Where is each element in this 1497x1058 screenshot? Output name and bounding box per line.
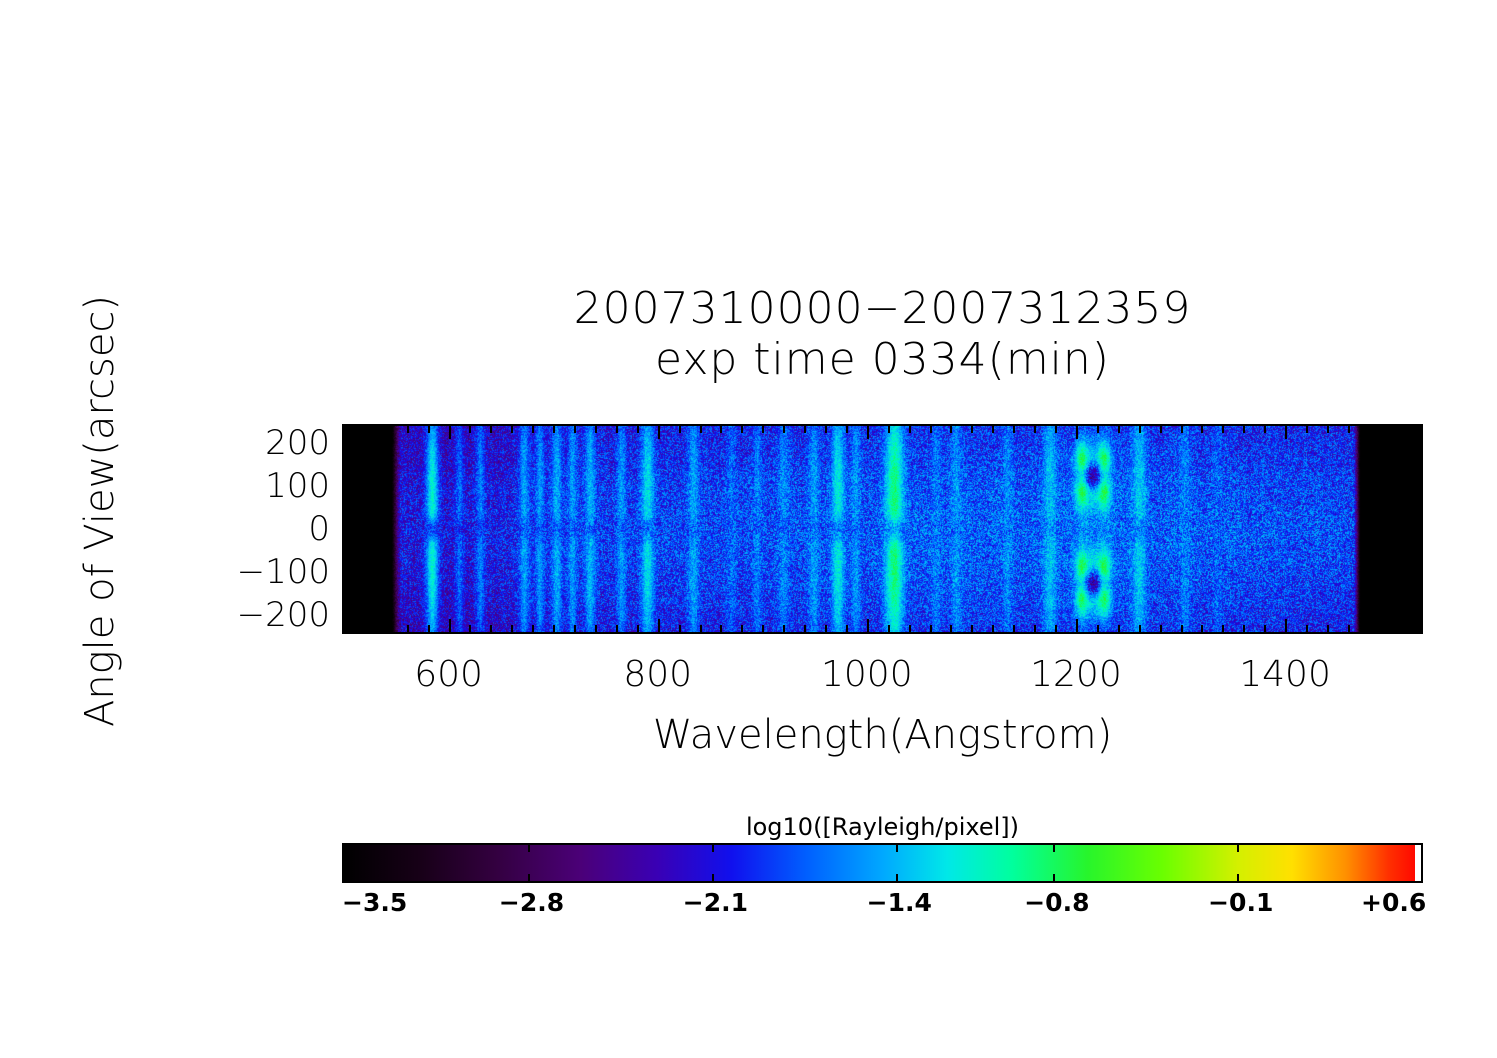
x-axis-tick-label: 1200: [1030, 655, 1122, 695]
colorbar-tick-label: −2.8: [499, 889, 564, 917]
colorbar-tick-label: −0.8: [1024, 889, 1089, 917]
x-axis-tick-label: 1400: [1239, 655, 1331, 695]
plot-title: 2007310000−2007312359 exp time 0334(min): [342, 284, 1423, 386]
spectrogram-plot-area: [342, 424, 1423, 634]
x-axis-title: Wavelength(Angstrom): [342, 712, 1423, 758]
colorbar-swatch: [342, 843, 1423, 883]
colorbar-tick-label: −2.1: [683, 889, 748, 917]
colorbar-tick-labels: −3.5−2.8−2.1−1.4−0.8−0.1+0.6: [342, 889, 1423, 921]
plot-title-line-1: 2007310000−2007312359: [342, 284, 1423, 334]
x-axis-tick-labels: 600800100012001400: [342, 655, 1423, 703]
x-axis-tick-label: 1000: [821, 655, 913, 695]
y-axis-tick-label: 200: [265, 426, 330, 460]
x-axis-tick-label: 800: [623, 655, 692, 695]
colorbar-tick-label: −0.1: [1208, 889, 1273, 917]
y-axis-tick-label: −200: [237, 598, 330, 632]
colorbar-tick-label: −1.4: [867, 889, 932, 917]
y-axis-title: Angle of View(arcsec): [77, 251, 123, 771]
colorbar-gradient: [344, 845, 1421, 881]
spectrogram-figure: 2007310000−2007312359 exp time 0334(min)…: [0, 0, 1497, 1058]
colorbar-end-cap: [1415, 845, 1421, 881]
colorbar-tick-label: −3.5: [342, 889, 407, 917]
y-axis-tick-label: −100: [237, 555, 330, 589]
colorbar-tick-label: +0.6: [1361, 889, 1426, 917]
y-axis-tick-label: 0: [308, 512, 330, 546]
y-axis-tick-label: 100: [265, 469, 330, 503]
spectrogram-image: [344, 426, 1421, 632]
colorbar-title: log10([Rayleigh/pixel]): [342, 813, 1423, 841]
x-axis-tick-label: 600: [414, 655, 483, 695]
y-axis-tick-labels: 2001000−100−200: [190, 424, 330, 634]
plot-title-line-2: exp time 0334(min): [342, 334, 1423, 386]
colorbar: log10([Rayleigh/pixel]) −3.5−2.8−2.1−1.4…: [342, 813, 1423, 923]
